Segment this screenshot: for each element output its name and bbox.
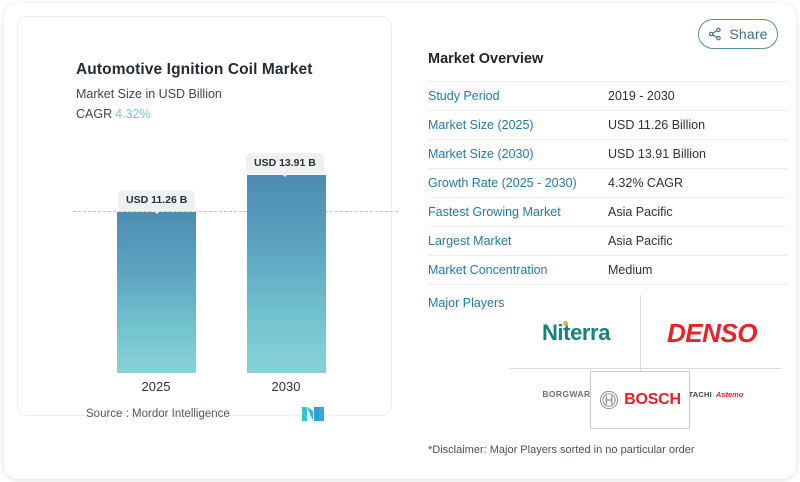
astemo-text: Astemo [716,390,744,399]
chart-card: Automotive Ignition Coil Market Market S… [17,16,392,416]
overview-row-market-size-2030: Market Size (2030) USD 13.91 Billion [428,139,788,168]
overview-key: Market Size (2030) [428,147,608,161]
x-tick-2030: 2030 [246,379,326,394]
player-logo-denso: DENSO [649,301,775,365]
report-card: Share Automotive Ignition Coil Market Ma… [4,3,796,479]
x-tick-2025: 2025 [116,379,196,394]
share-button-label: Share [729,26,767,42]
bar-chart-plot: USD 11.26 B USD 13.91 B 2025 2030 [18,17,393,417]
grid-divider-horizontal [509,368,781,369]
overview-key: Market Concentration [428,263,608,277]
bar-label-2025: USD 11.26 B [118,190,195,210]
overview-key: Market Size (2025) [428,118,608,132]
overview-row-fastest-growing-market: Fastest Growing Market Asia Pacific [428,197,788,226]
overview-row-largest-market: Largest Market Asia Pacific [428,226,788,255]
niterra-wordmark: Niterra [542,320,610,346]
overview-row-study-period: Study Period 2019 - 2030 [428,81,788,110]
overview-value: USD 11.26 Billion [608,118,705,132]
overview-row-market-size-2025: Market Size (2025) USD 11.26 Billion [428,110,788,139]
bar-2030[interactable] [247,175,326,373]
overview-value: 2019 - 2030 [608,89,675,103]
overview-value: Asia Pacific [608,205,673,219]
overview-row-growth-rate: Growth Rate (2025 - 2030) 4.32% CAGR [428,168,788,197]
overview-value: USD 13.91 Billion [608,147,706,161]
disclaimer-text: *Disclaimer: Major Players sorted in no … [428,444,695,456]
overview-key: Fastest Growing Market [428,205,608,219]
overview-value: Medium [608,263,652,277]
bar-2025[interactable] [117,212,196,373]
overview-key: Largest Market [428,234,608,248]
denso-wordmark: DENSO [667,318,757,349]
overview-key: Growth Rate (2025 - 2030) [428,176,608,190]
overview-key: Study Period [428,89,608,103]
overview-value: Asia Pacific [608,234,673,248]
bar-label-2030: USD 13.91 B [246,153,324,173]
overview-row-market-concentration: Market Concentration Medium [428,255,788,284]
bosch-wordmark: BOSCH [624,391,681,409]
niterra-dot-icon [563,321,568,326]
player-logo-niterra: Niterra [515,301,637,365]
bosch-emblem-icon [599,390,619,410]
market-overview-panel: Market Overview Study Period 2019 - 2030… [428,51,788,310]
mordor-intelligence-logo [302,405,324,421]
overview-value: 4.32% CAGR [608,176,683,190]
share-button[interactable]: Share [698,19,778,49]
hitachi-astemo-wordmark: HITACHI Astemo [681,390,744,399]
share-nodes-icon [708,27,722,41]
market-overview-title: Market Overview [428,51,788,67]
player-logo-bosch: BOSCH [590,371,690,429]
chart-source: Source : Mordor Intelligence [86,408,230,420]
